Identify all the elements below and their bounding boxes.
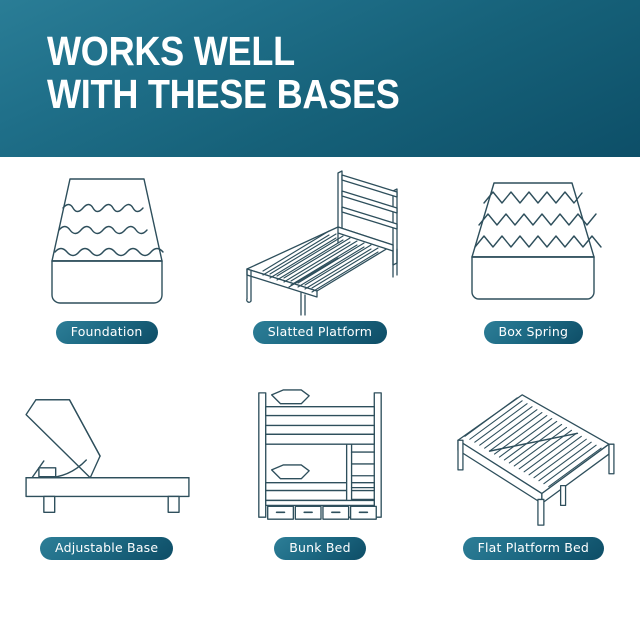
base-item-adjustable-base[interactable]: Adjustable Base: [0, 383, 213, 601]
page-title: WORKS WELLWITH THESE BASES: [47, 30, 569, 116]
base-item-bunk-bed[interactable]: Bunk Bed: [213, 383, 426, 601]
page-title-line-1: WORKS WELL: [47, 28, 295, 74]
flat-platform-bed-icon: [438, 383, 628, 533]
page-title-line-2: WITH THESE BASES: [47, 73, 569, 116]
base-label-foundation: Foundation: [56, 321, 158, 344]
foundation-mattress-icon: [12, 165, 202, 317]
base-item-box-spring[interactable]: Box Spring: [427, 165, 640, 383]
base-label-flat-platform-bed: Flat Platform Bed: [463, 537, 605, 560]
bunk-bed-icon: [225, 383, 415, 533]
infographic-card: WORKS WELLWITH THESE BASES Foundation: [0, 0, 640, 640]
base-label-slatted-platform: Slatted Platform: [253, 321, 387, 344]
base-item-slatted-platform[interactable]: Slatted Platform: [213, 165, 426, 383]
base-item-foundation[interactable]: Foundation: [0, 165, 213, 383]
base-label-adjustable-base: Adjustable Base: [40, 537, 173, 560]
bases-grid: Foundation: [0, 157, 640, 640]
slatted-platform-bed-icon: [225, 165, 415, 317]
base-label-box-spring: Box Spring: [484, 321, 584, 344]
header-banner: WORKS WELLWITH THESE BASES: [0, 0, 640, 157]
box-spring-icon: [438, 165, 628, 317]
base-item-flat-platform-bed[interactable]: Flat Platform Bed: [427, 383, 640, 601]
base-label-bunk-bed: Bunk Bed: [274, 537, 365, 560]
adjustable-base-icon: [12, 383, 202, 533]
